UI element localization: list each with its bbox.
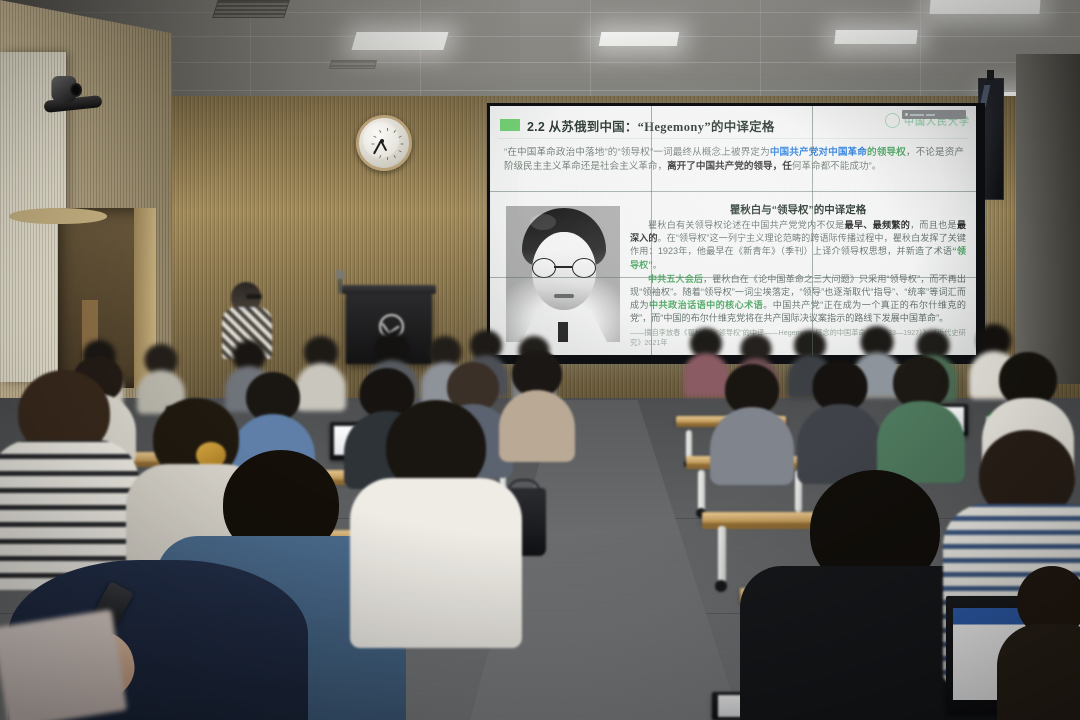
p1-t1: 瞿秋白有关领导权论述在中国共产党党内不仅是 bbox=[648, 220, 845, 230]
right-wall-edge bbox=[1016, 54, 1080, 384]
ceiling-light-panel bbox=[834, 30, 917, 44]
green-square-bullet-icon bbox=[500, 119, 520, 131]
portrait-tie bbox=[558, 322, 568, 342]
p1-t2: ，而且也是 bbox=[910, 220, 957, 230]
title-divider bbox=[498, 138, 968, 139]
lead-highlight-dark: 离开了中国共产党的领导，任 bbox=[667, 161, 792, 172]
panel-body: 瞿秋白有关领导权论述在中国共产党党内不仅是最早、最频繁的，而且也是最深入的。在“… bbox=[630, 219, 966, 348]
panel-paragraph-1: 瞿秋白有关领导权论述在中国共产党党内不仅是最早、最频繁的，而且也是最深入的。在“… bbox=[630, 219, 966, 272]
p2-g1: 中共五大会后 bbox=[648, 274, 703, 284]
round-glasses-icon bbox=[530, 258, 598, 276]
lead-part3: 何革命都不能成功”。 bbox=[792, 161, 882, 172]
p2-g2: 中共政治话语中的核心术语 bbox=[649, 300, 763, 310]
display-brand: 中国人民大学 bbox=[874, 109, 970, 131]
panel-paragraph-2: 中共五大会后，瞿秋白在《论中国革命之三大问题》只采用“领导权”，而不再出现“领袖… bbox=[630, 273, 966, 326]
display-surface: 2.2 从苏俄到中国：“Hegemony”的中译定格 中国人民大学 “在中国革命… bbox=[490, 106, 976, 355]
audience-member bbox=[886, 356, 956, 464]
portrait-photo bbox=[504, 204, 626, 348]
slide-title-cn-1: 从苏俄到中国： bbox=[549, 120, 638, 134]
wall-clock bbox=[356, 115, 412, 171]
presentation-slide: 2.2 从苏俄到中国：“Hegemony”的中译定格 中国人民大学 “在中国革命… bbox=[490, 106, 976, 355]
lead-highlight-green: 的领导权 bbox=[867, 147, 906, 158]
slide-title-number: 2.2 bbox=[527, 120, 545, 134]
dot-icon bbox=[905, 113, 908, 116]
panel-heading: 瞿秋白与“领导权”的中译定格 bbox=[630, 202, 966, 217]
ceiling-light-panel bbox=[930, 0, 1041, 14]
audience-member bbox=[366, 400, 506, 630]
presenter-glasses-icon bbox=[246, 294, 262, 299]
audience-member bbox=[718, 364, 786, 468]
foreground-tablet[interactable] bbox=[0, 609, 127, 720]
audience-member bbox=[1012, 566, 1080, 720]
chip-bar bbox=[926, 114, 935, 116]
lecture-hall-photo: 2.2 从苏俄到中国：“Hegemony”的中译定格 中国人民大学 “在中国革命… bbox=[0, 0, 1080, 720]
slide-text-panel: 瞿秋白与“领导权”的中译定格 瞿秋白有关领导权论述在中国共产党党内不仅是最早、最… bbox=[630, 202, 966, 339]
led-video-wall[interactable]: 2.2 从苏俄到中国：“Hegemony”的中译定格 中国人民大学 “在中国革命… bbox=[487, 103, 985, 364]
p1-t4: 。 bbox=[653, 260, 662, 270]
lead-highlight-blue: 中国共产党对中国革命 bbox=[770, 147, 867, 158]
chip-bar bbox=[910, 114, 924, 116]
wall-camera-icon bbox=[40, 74, 102, 114]
window-chip bbox=[902, 110, 966, 119]
p1-t3: 。在“领导权”这一列宁主义理论范畴的跨语际传播过程中，瞿秋白发挥了关键作用：19… bbox=[630, 233, 966, 256]
audience-member bbox=[506, 350, 568, 446]
slide-title-cn-2: 的中译定格 bbox=[711, 120, 775, 134]
microphone-icon bbox=[338, 276, 342, 294]
ceiling-light-panel bbox=[599, 32, 679, 46]
slide-lead-paragraph: “在中国革命政治中落地”的“领导权”一词最终从概念上被界定为中国共产党对中国革命… bbox=[504, 146, 964, 174]
slide-title-en: “Hegemony” bbox=[638, 120, 711, 134]
audience-member bbox=[0, 370, 128, 580]
lead-part1: “在中国革命政治中落地”的“领导权”一词最终从概念上被界定为 bbox=[504, 147, 770, 158]
audience-member bbox=[140, 344, 182, 404]
university-seal-icon bbox=[885, 113, 900, 128]
p1-b1: 最早、最频繁的 bbox=[845, 220, 911, 230]
audience-member bbox=[806, 360, 874, 466]
